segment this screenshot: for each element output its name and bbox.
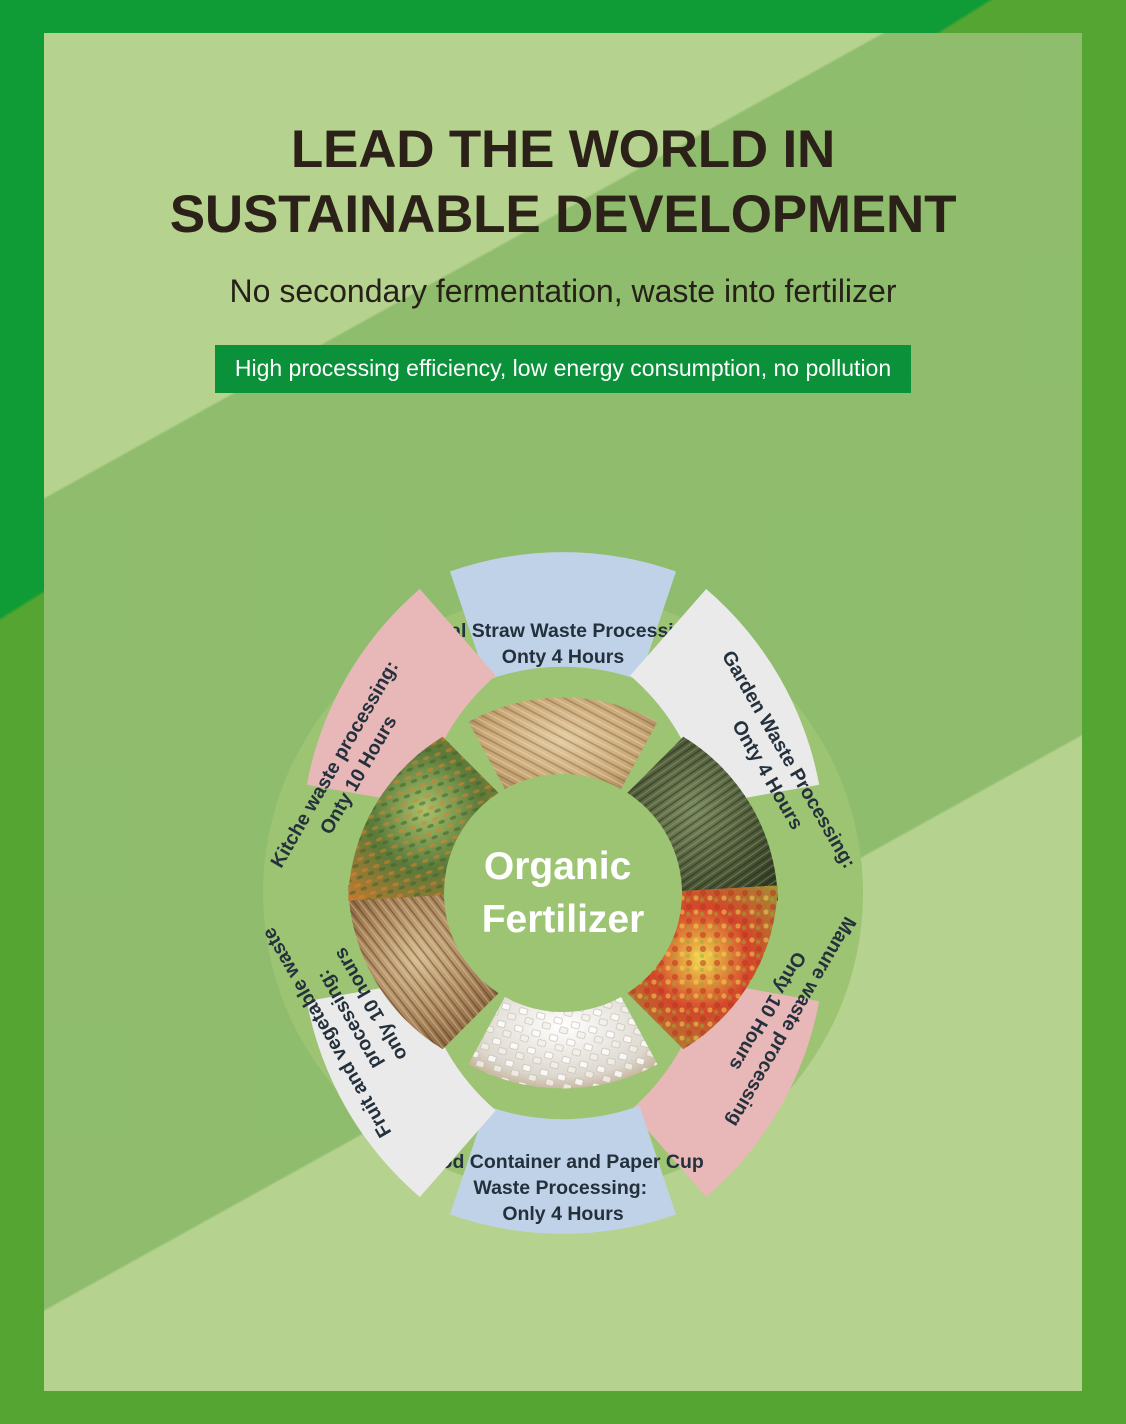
- segment-label-line: Onty 4 Hours: [502, 646, 625, 668]
- page-title-line-1: LEAD THE WORLD IN: [44, 118, 1082, 183]
- highlight-banner: High processing efficiency, low energy c…: [215, 345, 911, 393]
- page-subtitle: No secondary fermentation, waste into fe…: [44, 273, 1082, 310]
- poster-root: LEAD THE WORLD IN SUSTAINABLE DEVELOPMEN…: [0, 0, 1126, 1424]
- wheel-center-hub: [444, 774, 682, 1012]
- segment-label-line: Only 4 Hours: [502, 1203, 624, 1225]
- center-label-line-2: Fertilizer: [482, 898, 645, 941]
- segment-label-line: Food Container and Paper Cup: [417, 1151, 704, 1173]
- banner-container: High processing efficiency, low energy c…: [44, 345, 1082, 393]
- segment-label-line: Waste Processing:: [473, 1177, 647, 1199]
- waste-processing-wheel: Rural Straw Waste Processing: Onty 4 Hou…: [97, 427, 1029, 1359]
- wheel-svg: Rural Straw Waste Processing: Onty 4 Hou…: [97, 427, 1029, 1359]
- poster-panel: LEAD THE WORLD IN SUSTAINABLE DEVELOPMEN…: [44, 33, 1082, 1391]
- center-label-line-1: Organic: [484, 845, 631, 888]
- page-title: LEAD THE WORLD IN SUSTAINABLE DEVELOPMEN…: [44, 118, 1082, 247]
- page-title-line-2: SUSTAINABLE DEVELOPMENT: [44, 183, 1082, 248]
